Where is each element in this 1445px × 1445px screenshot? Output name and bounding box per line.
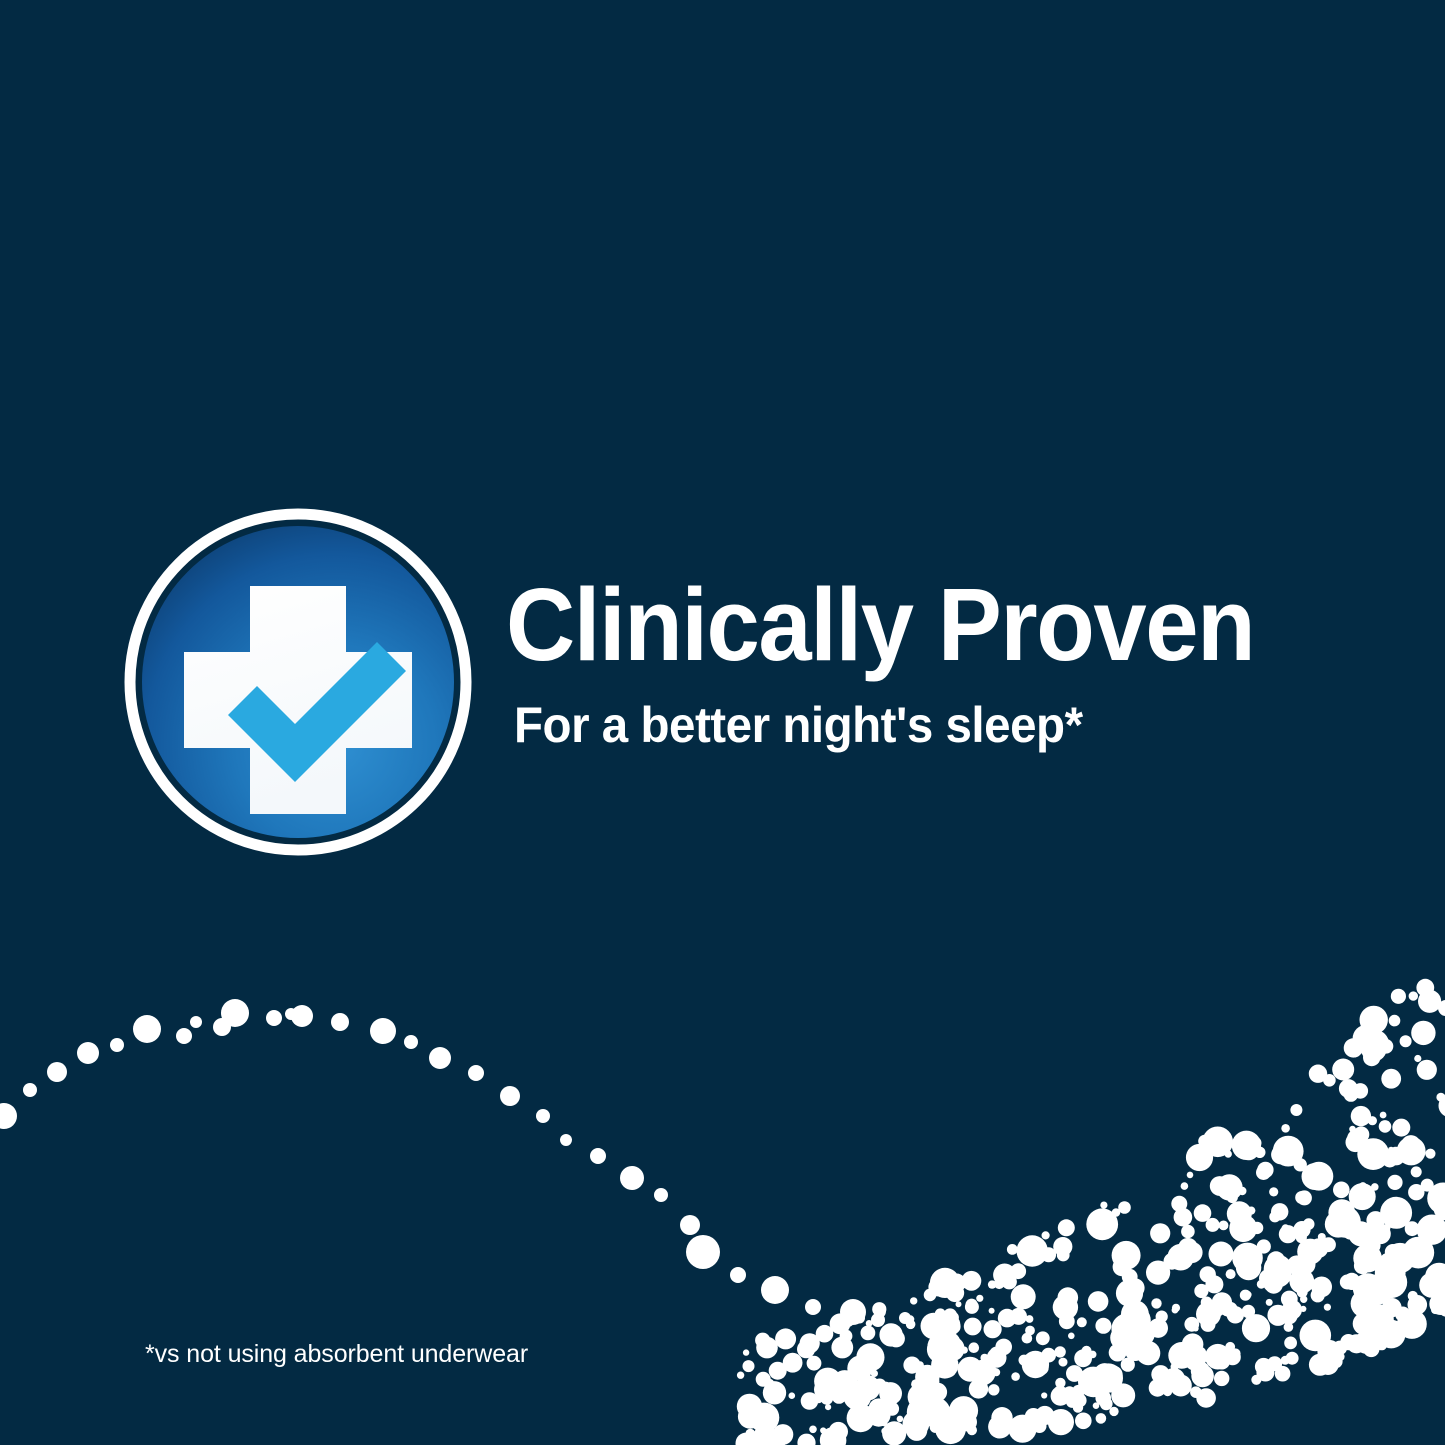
poster-canvas: Clinically Proven For a better night's s… [0, 0, 1445, 1445]
page-subtitle: For a better night's sleep* [514, 699, 1342, 752]
headline-block: Clinically Proven For a better night's s… [506, 572, 1386, 752]
clinically-proven-badge [124, 508, 472, 856]
footnote-disclaimer: *vs not using absorbent underwear [145, 1340, 528, 1369]
page-title: Clinically Proven [506, 572, 1324, 677]
